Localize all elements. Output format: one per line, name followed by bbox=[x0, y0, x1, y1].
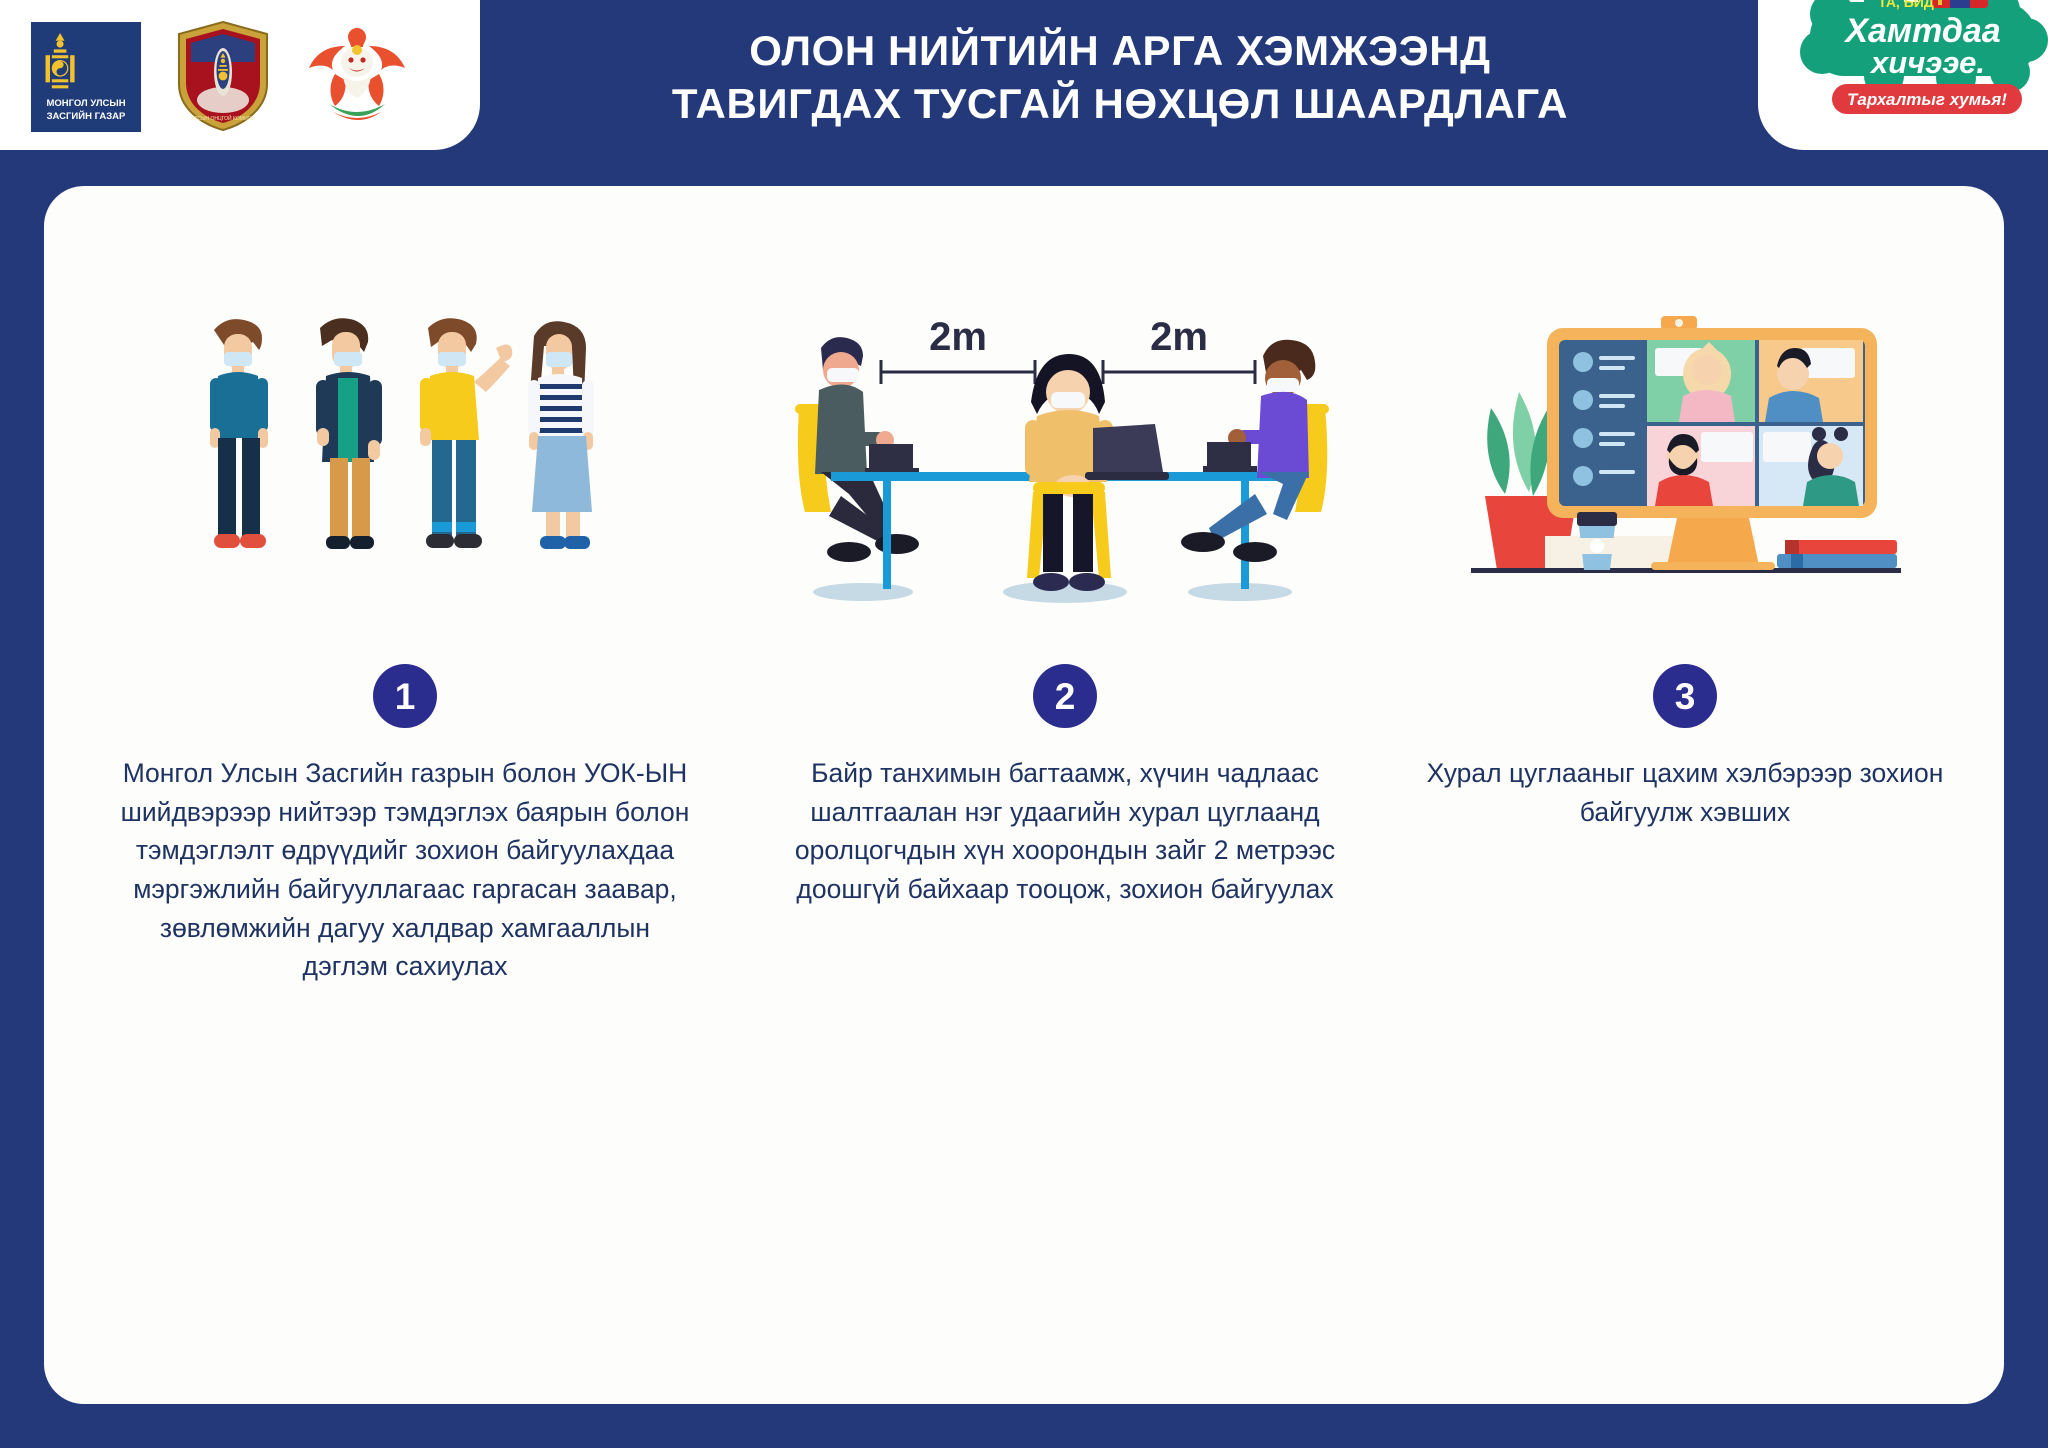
gov-emblem-label: МОНГОЛ УЛСЫН ЗАСГИЙН ГАЗАР bbox=[31, 98, 141, 124]
header-campaign-plate: ТА, БИД Хамтдаа хичээе. Тархалтыг хумья! bbox=[1758, 0, 2048, 150]
campaign-logo: ТА, БИД Хамтдаа хичээе. Тархалтыг хумья! bbox=[1788, 0, 2048, 130]
state-emergency-commission-shield-icon: УЛСЫН ОНЦГОЙ КОМИСС bbox=[175, 20, 271, 132]
step-number-badge-1: 1 bbox=[373, 664, 437, 728]
campaign-word-2: хичээе. bbox=[1869, 45, 1985, 80]
section-2-caption: Байр танхимын багтаамж, хүчин чадлаас ша… bbox=[755, 754, 1375, 909]
video-tile-1 bbox=[1647, 340, 1755, 422]
section-3-caption: Хурал цуглааныг цахим хэлбэрээр зохион б… bbox=[1405, 754, 1965, 831]
dimension-label-right: 2m bbox=[1150, 315, 1208, 359]
header-bar: МОНГОЛ УЛСЫН ЗАСГИЙН ГАЗАР bbox=[0, 0, 2048, 152]
video-tile-3 bbox=[1647, 426, 1755, 506]
video-tile-2 bbox=[1759, 340, 1863, 422]
video-tile-4 bbox=[1759, 426, 1863, 506]
header-logo-plate: МОНГОЛ УЛСЫН ЗАСГИЙН ГАЗАР bbox=[0, 0, 480, 150]
ulaanbaatar-garuda-emblem-icon bbox=[305, 20, 409, 132]
page-title: ОЛОН НИЙТИЙН АРГА ХЭМЖЭЭНД ТАВИГДАХ ТУСГ… bbox=[520, 18, 1720, 138]
gov-label-line2: ЗАСГИЙН ГАЗАР bbox=[47, 111, 126, 122]
step-number-badge-3: 3 bbox=[1653, 664, 1717, 728]
person-centre bbox=[1025, 354, 1169, 591]
section-1: 1 Монгол Улсын Засгийн газрын болон УОК-… bbox=[60, 300, 750, 986]
gov-label-line1: МОНГОЛ УЛСЫН bbox=[46, 98, 125, 109]
dimension-label-left: 2m bbox=[929, 315, 987, 359]
page-title-line1: ОЛОН НИЙТИЙН АРГА ХЭМЖЭЭНД bbox=[749, 25, 1490, 78]
desktop-monitor-showing-four-person-video-call-illustration bbox=[1380, 300, 1990, 630]
campaign-tagline-top: ТА, БИД bbox=[1878, 0, 1934, 10]
step-number-badge-2: 2 bbox=[1033, 664, 1097, 728]
person-2 bbox=[316, 318, 382, 549]
soyombo-symbol-icon bbox=[31, 31, 89, 93]
book-stack bbox=[1777, 540, 1897, 568]
campaign-ribbon-text: Тархалтыг хумья! bbox=[1847, 90, 2007, 109]
svg-text:УЛСЫН ОНЦГОЙ КОМИСС: УЛСЫН ОНЦГОЙ КОМИСС bbox=[191, 114, 255, 122]
person-4 bbox=[528, 321, 594, 549]
sections-row: 1 Монгол Улсын Засгийн газрын болон УОК-… bbox=[60, 300, 1990, 986]
group-of-four-people-wearing-face-masks-illustration bbox=[60, 300, 750, 630]
person-1 bbox=[210, 319, 268, 548]
mongolian-government-emblem-icon: МОНГОЛ УЛСЫН ЗАСГИЙН ГАЗАР bbox=[31, 22, 141, 132]
three-people-at-table-with-two-metre-spacing-illustration: 2m 2m bbox=[750, 300, 1380, 630]
person-3 bbox=[420, 318, 512, 548]
page-title-line2: ТАВИГДАХ ТУСГАЙ НӨХЦӨЛ ШААРДЛАГА bbox=[672, 78, 1568, 131]
section-1-caption: Монгол Улсын Засгийн газрын болон УОК-ЫН… bbox=[105, 754, 705, 986]
poster-root: МОНГОЛ УЛСЫН ЗАСГИЙН ГАЗАР bbox=[0, 0, 2048, 1448]
section-3: 3 Хурал цуглааныг цахим хэлбэрээр зохион… bbox=[1380, 300, 1990, 831]
section-2: 2m 2m bbox=[750, 300, 1380, 909]
